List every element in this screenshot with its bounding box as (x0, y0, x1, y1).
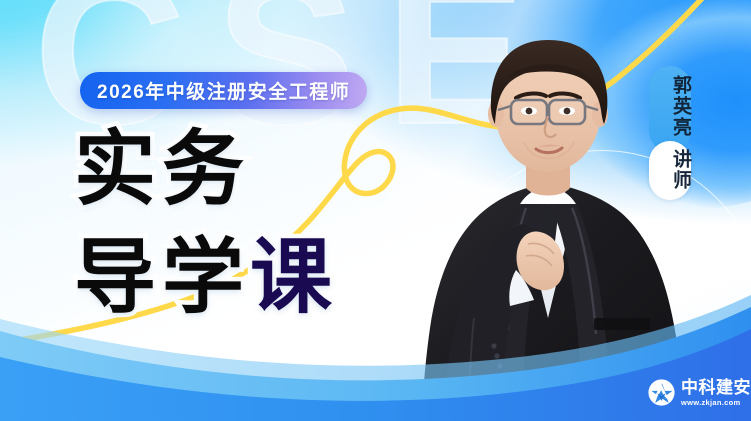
brand-logo: 中科建安 www.zkjan.com (648, 379, 751, 407)
headline-line-1: 实务 (74, 130, 250, 210)
headline-line-2-main: 导学 (74, 232, 250, 323)
headline-line-2: 导学课 (74, 238, 338, 318)
course-title-pill: 2026年中级注册安全工程师 (80, 72, 367, 109)
instructor-role: 讲师 (649, 141, 691, 200)
instructor-name: 郭英亮 (649, 66, 691, 152)
logo-text-block: 中科建安 www.zkjan.com (681, 379, 751, 407)
course-title-text: 2026年中级注册安全工程师 (97, 77, 350, 104)
course-poster: CSE CSE (0, 0, 751, 421)
logo-emblem-icon (648, 379, 675, 406)
brand-url: www.zkjan.com (681, 399, 751, 407)
headline-line-2-accent: 课 (250, 232, 338, 323)
brand-name: 中科建安 (681, 379, 751, 396)
instructor-badge: 郭英亮 讲师 (649, 66, 691, 200)
